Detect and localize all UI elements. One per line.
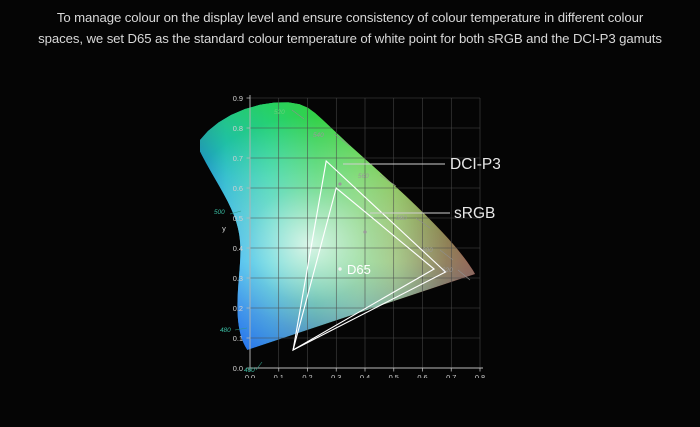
wavelength-label-580: 580: [396, 215, 407, 222]
wavelength-label-500: 500: [214, 209, 225, 216]
wavelength-label-600: 600: [422, 247, 433, 254]
x-tick-label: 0.5: [389, 373, 399, 378]
y-tick-label: 0.5: [233, 214, 243, 223]
y-tick-label: 0.3: [233, 274, 243, 283]
x-tick-label: 0.2: [302, 373, 312, 378]
legend-label-dci-p3: DCI-P3: [450, 156, 500, 173]
y-axis-title: y: [222, 224, 226, 233]
y-tick-label: 0.1: [233, 334, 243, 343]
x-tick-label: 0.1: [274, 373, 284, 378]
chromaticity-color-field: [200, 88, 490, 368]
d65-label: D65: [347, 262, 371, 277]
y-tick-label: 0.6: [233, 184, 243, 193]
y-tick-label: 0.9: [233, 94, 243, 103]
wavelength-label-520: 520: [274, 109, 285, 116]
legend-label-srgb: sRGB: [454, 205, 495, 222]
y-tick-label: 0.2: [233, 304, 243, 313]
x-tick-label: 0.6: [417, 373, 427, 378]
caption-text: To manage colour on the display level an…: [0, 7, 700, 49]
chromaticity-diagram-figure: 0.0 0.1 0.2 0.3 0.4 0.5 0.6 0.7 0.8 0.0 …: [200, 78, 500, 378]
wavelength-label-540: 540: [313, 132, 324, 139]
x-tick-label: 0.8: [475, 373, 485, 378]
gamut-vertex-marker: [363, 230, 366, 233]
wavelength-label-560: 560: [358, 173, 369, 180]
wavelength-label-480: 480: [220, 327, 231, 334]
x-tick-label: 0.7: [446, 373, 456, 378]
d65-point-marker: [338, 267, 341, 270]
gamut-vertex-marker: [338, 182, 341, 185]
y-tick-label: 0.0: [233, 364, 243, 373]
y-tick-label: 0.4: [233, 244, 243, 253]
wavelength-label-460: 460: [244, 367, 255, 374]
caption-line-2: spaces, we set D65 as the standard colou…: [0, 28, 700, 49]
y-tick-label: 0.8: [233, 124, 243, 133]
caption-line-1: To manage colour on the display level an…: [0, 7, 700, 28]
cie-chromaticity-chart: 0.0 0.1 0.2 0.3 0.4 0.5 0.6 0.7 0.8 0.0 …: [200, 78, 500, 378]
y-tick-label: 0.7: [233, 154, 243, 163]
x-tick-label: 0.3: [331, 373, 341, 378]
x-tick-label: 0.4: [360, 373, 370, 378]
x-axis-tick-labels: 0.0 0.1 0.2 0.3 0.4 0.5 0.6 0.7 0.8: [245, 373, 485, 378]
